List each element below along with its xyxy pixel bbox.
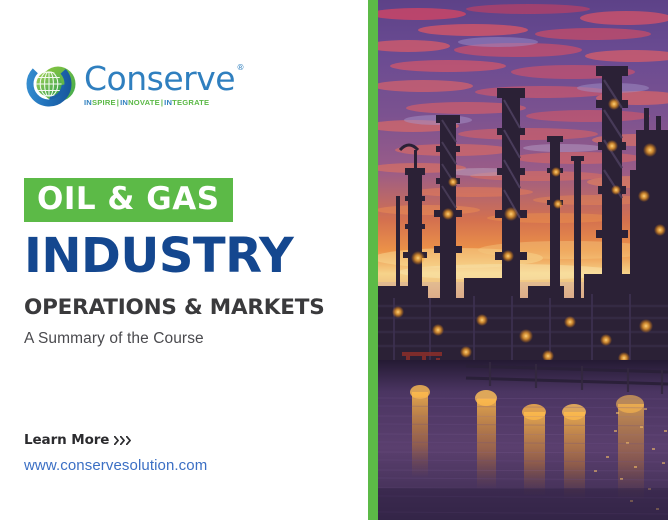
brand-name: Conserve®	[84, 62, 235, 95]
footer-group: Learn More www.conservesolution.com	[24, 432, 207, 474]
conserve-globe-logo-icon	[26, 58, 78, 110]
learn-more-cta[interactable]: Learn More	[24, 432, 207, 448]
brand-logo[interactable]: Conserve® INSPIRE|INNOVATE|INTEGRATE	[26, 58, 235, 110]
brand-logo-text: Conserve® INSPIRE|INNOVATE|INTEGRATE	[84, 58, 235, 107]
headline-subtitle: OPERATIONS & MARKETS	[24, 296, 354, 320]
headline-description: A Summary of the Course	[24, 330, 354, 348]
refinery-sunset-photo	[378, 0, 668, 520]
website-link[interactable]: www.conservesolution.com	[24, 457, 207, 474]
green-divider-strip	[368, 0, 378, 520]
page-title: INDUSTRY	[24, 232, 354, 280]
brand-tagline: INSPIRE|INNOVATE|INTEGRATE	[84, 98, 235, 107]
triple-chevron-right-icon	[114, 436, 132, 445]
registered-mark: ®	[237, 64, 245, 72]
oil-and-gas-banner: OIL & GAS	[24, 178, 233, 222]
learn-more-label: Learn More	[24, 432, 109, 448]
poster-root: Conserve® INSPIRE|INNOVATE|INTEGRATE OIL…	[0, 0, 668, 520]
left-content-panel: Conserve® INSPIRE|INNOVATE|INTEGRATE OIL…	[0, 0, 368, 520]
headline-group: OIL & GAS INDUSTRY OPERATIONS & MARKETS …	[24, 178, 354, 348]
